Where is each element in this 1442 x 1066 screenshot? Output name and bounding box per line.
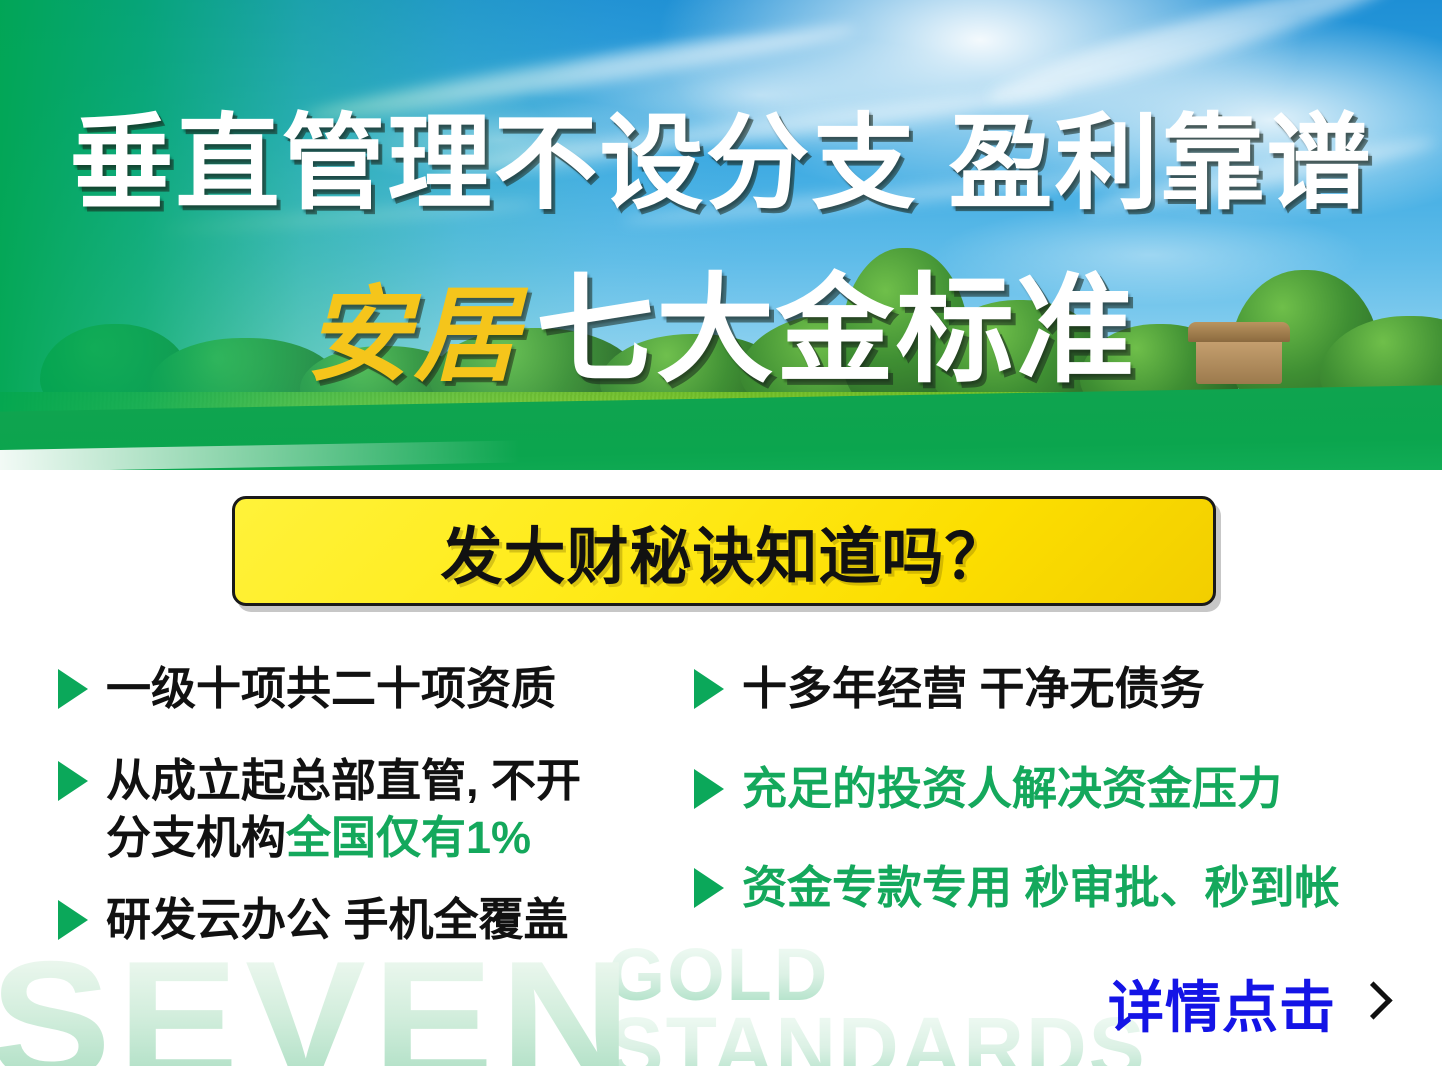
hero-subtitle: 七大金标准 — [536, 265, 1136, 397]
question-banner[interactable]: 发大财秘诀知道吗？ — [232, 496, 1216, 606]
feature-line-1: 资金专款专用 秒审批、秒到帐 — [742, 862, 1340, 913]
feature-text: 从成立起总部直管, 不开 分支机构全国仅有1% — [106, 752, 581, 867]
advertisement-banner: 垂直管理不设分支 盈利靠谱 安居七大金标准 发大财秘诀知道吗？ 一级十项共二十项… — [0, 0, 1442, 1066]
feature-text: 十多年经营 干净无债务 — [742, 660, 1205, 718]
triangle-right-icon — [58, 900, 88, 940]
feature-highlight: 全国仅有1% — [286, 812, 531, 863]
feature-line-1: 从成立起总部直管, 不开 — [106, 755, 581, 806]
feature-item: 资金专款专用 秒审批、秒到帐 — [694, 859, 1434, 917]
brand-name: 安居 — [306, 278, 522, 394]
feature-line-2: 分支机构全国仅有1% — [106, 809, 581, 867]
feature-text: 资金专款专用 秒审批、秒到帐 — [742, 859, 1340, 917]
hero-section: 垂直管理不设分支 盈利靠谱 安居七大金标准 — [0, 0, 1442, 470]
feature-item: 十多年经营 干净无债务 — [694, 660, 1434, 718]
feature-text: 一级十项共二十项资质 — [106, 660, 556, 718]
triangle-right-icon — [694, 669, 724, 709]
triangle-right-icon — [58, 761, 88, 801]
features-column-right: 十多年经营 干净无债务 充足的投资人解决资金压力 资金专款专用 秒审批、秒到帐 — [694, 660, 1434, 943]
feature-line-1: 一级十项共二十项资质 — [106, 663, 556, 714]
triangle-right-icon — [58, 669, 88, 709]
details-cta-label: 详情点击 — [1108, 963, 1336, 1044]
feature-line-1: 十多年经营 干净无债务 — [742, 663, 1205, 714]
triangle-right-icon — [694, 868, 724, 908]
details-cta[interactable]: 详情点击 — [1108, 963, 1384, 1044]
feature-item: 充足的投资人解决资金压力 — [694, 760, 1434, 818]
feature-item: 一级十项共二十项资质 — [58, 660, 698, 718]
feature-text: 充足的投资人解决资金压力 — [742, 760, 1282, 818]
feature-item: 从成立起总部直管, 不开 分支机构全国仅有1% — [58, 752, 698, 867]
features-section: 一级十项共二十项资质 从成立起总部直管, 不开 分支机构全国仅有1% 研发云办公… — [0, 660, 1442, 990]
feature-line-2-plain: 分支机构 — [106, 812, 286, 863]
triangle-right-icon — [694, 769, 724, 809]
hero-headline-secondary: 安居七大金标准 — [0, 272, 1442, 390]
feature-item: 研发云办公 手机全覆盖 — [58, 891, 698, 949]
feature-text: 研发云办公 手机全覆盖 — [106, 891, 569, 949]
watermark-standards: STANDARDS — [608, 1009, 1147, 1066]
features-column-left: 一级十项共二十项资质 从成立起总部直管, 不开 分支机构全国仅有1% 研发云办公… — [58, 660, 698, 974]
hero-headline-primary: 垂直管理不设分支 盈利靠谱 — [0, 112, 1442, 216]
feature-line-1: 充足的投资人解决资金压力 — [742, 763, 1282, 814]
question-banner-text: 发大财秘诀知道吗？ — [440, 506, 1007, 596]
feature-line-1: 研发云办公 手机全覆盖 — [106, 894, 569, 945]
chevron-right-icon — [1358, 981, 1384, 1027]
